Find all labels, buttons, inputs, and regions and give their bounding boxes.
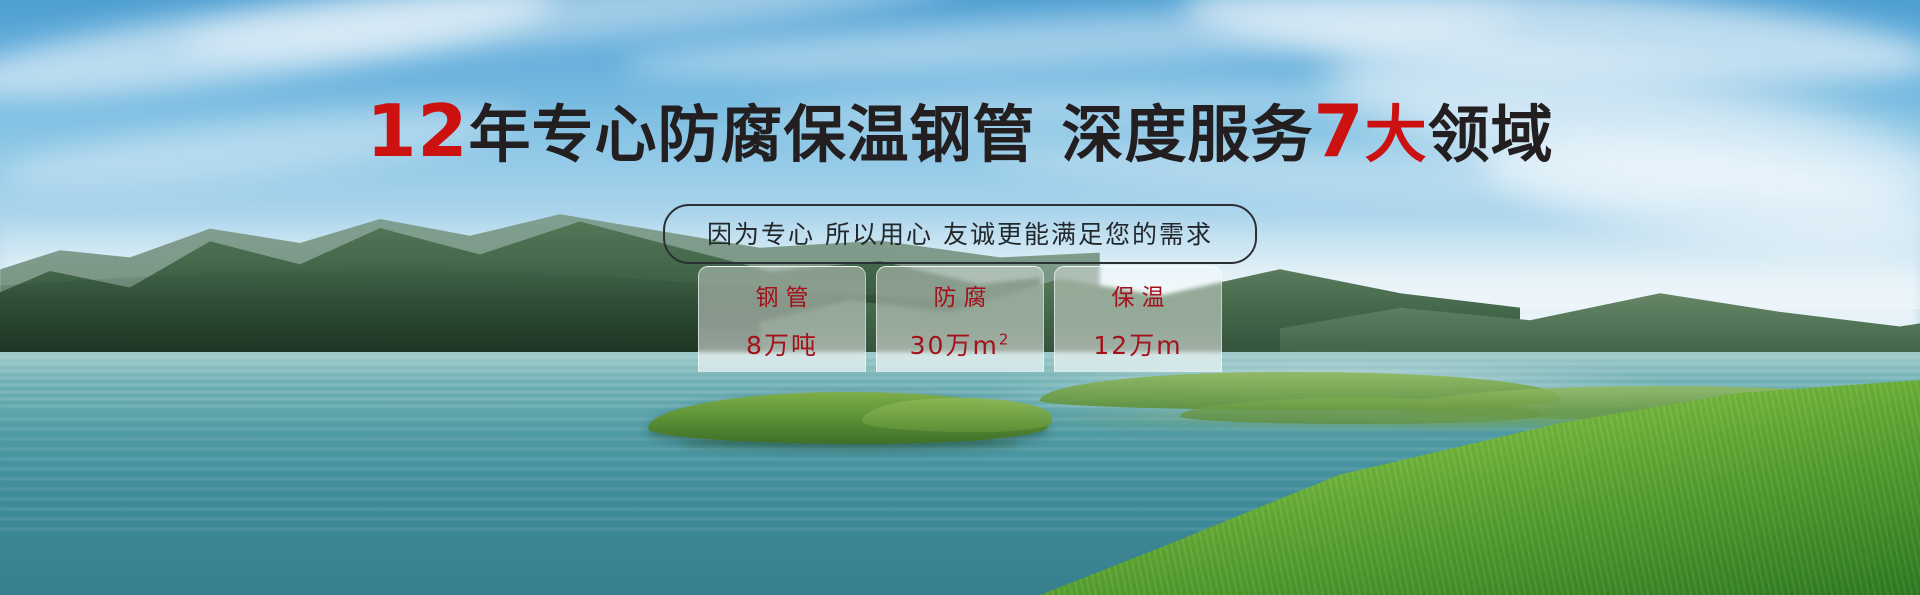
stat-card-title: 钢管 <box>749 278 816 312</box>
stat-card-value: 12万m <box>1093 326 1182 362</box>
stat-card-title: 防腐 <box>927 278 994 312</box>
banner-content: 12年专心防腐保温钢管深度服务7大领域 因为专心 所以用心 友诚更能满足您的需求… <box>0 0 1920 595</box>
headline-phrase-two: 深度服务 <box>1062 98 1314 171</box>
headline-fields-measure: 大 <box>1365 98 1428 171</box>
stat-value-text: 30万m <box>910 331 999 360</box>
banner-headline: 12年专心防腐保温钢管深度服务7大领域 <box>0 84 1920 174</box>
banner-subtitle-pill: 因为专心 所以用心 友诚更能满足您的需求 <box>663 204 1257 264</box>
stat-value-superscript: 2 <box>999 330 1011 348</box>
stat-card-insulation: 保温 12万m <box>1054 266 1222 372</box>
headline-fields-number: 7 <box>1314 89 1365 173</box>
stat-card-title: 保温 <box>1105 278 1172 312</box>
headline-phrase-three: 领域 <box>1428 98 1554 171</box>
stat-value-text: 12万m <box>1093 331 1182 360</box>
stat-card-steel-pipe: 钢管 8万吨 <box>698 266 866 372</box>
stat-card-value: 30万m2 <box>910 326 1011 362</box>
headline-years-number: 12 <box>366 89 468 173</box>
stat-card-value: 8万吨 <box>746 326 818 362</box>
headline-phrase-one: 年专心防腐保温钢管 <box>469 98 1036 171</box>
stat-value-text: 8万吨 <box>746 331 818 360</box>
stats-card-group: 钢管 8万吨 防腐 30万m2 保温 12万m <box>698 266 1222 372</box>
hero-banner: 12年专心防腐保温钢管深度服务7大领域 因为专心 所以用心 友诚更能满足您的需求… <box>0 0 1920 595</box>
stat-card-anticorrosion: 防腐 30万m2 <box>876 266 1044 372</box>
